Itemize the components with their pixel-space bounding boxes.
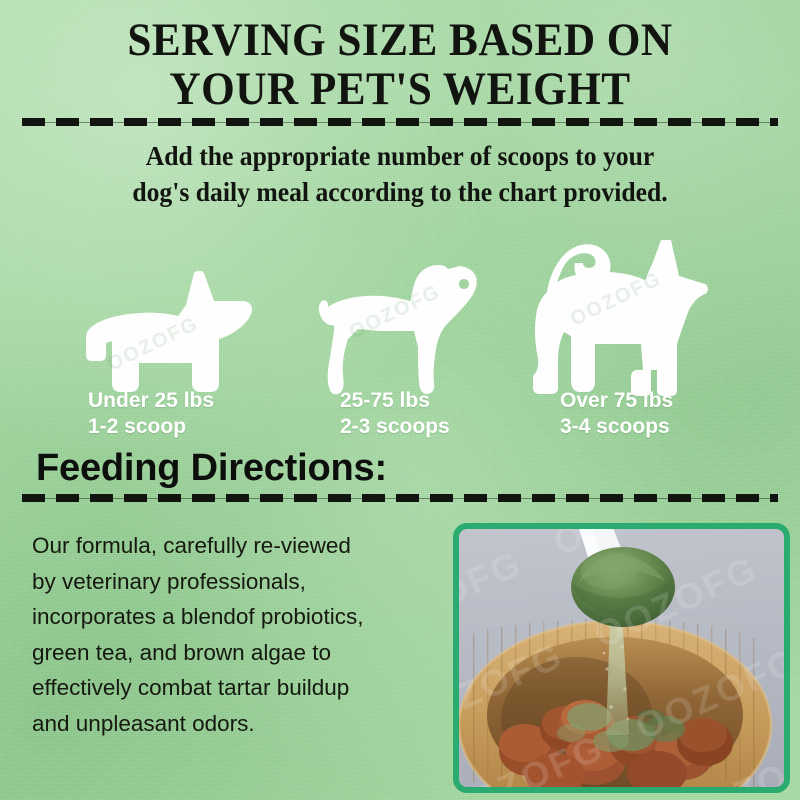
serving-size-infographic: SERVING SIZE BASED ON YOUR PET'S WEIGHT … [0, 0, 800, 800]
large-dog-silhouette-icon [533, 240, 709, 396]
divider-dashes [22, 118, 778, 126]
body-line-3: incorporates a blendof probiotics, [32, 599, 432, 635]
small-dog-silhouette: OOZOFG [86, 271, 254, 396]
subtitle-line-2: dog's daily meal according to the chart … [20, 174, 780, 210]
feeding-directions-heading: Feeding Directions: [36, 446, 387, 490]
dog-label-row: Under 25 lbs 1-2 scoop 25-75 lbs 2-3 sco… [0, 388, 800, 448]
medium-dog-silhouette: OOZOFG [318, 261, 482, 396]
serving-scoops-medium: 2-3 scoops [340, 414, 450, 440]
serving-scoops-small: 1-2 scoop [88, 414, 214, 440]
page-title-line-2: YOUR PET'S WEIGHT [32, 65, 768, 114]
subtitle: Add the appropriate number of scoops to … [20, 138, 780, 210]
divider-middle [22, 494, 778, 503]
feeding-directions-body: Our formula, carefully re-viewed by vete… [32, 528, 432, 741]
serving-label-small: Under 25 lbs 1-2 scoop [88, 388, 214, 440]
serving-label-medium: 25-75 lbs 2-3 scoops [340, 388, 450, 440]
product-photo: OOZOFG OOZOFG OOZOFG OOZOFG OOZOFG OOZOF… [453, 523, 790, 793]
serving-weight-small: Under 25 lbs [88, 388, 214, 414]
body-line-5: effectively combat tartar buildup [32, 670, 432, 706]
large-dog-silhouette: OOZOFG [533, 240, 709, 396]
scoop-and-bowl-illustration [459, 529, 784, 787]
serving-weight-medium: 25-75 lbs [340, 388, 450, 414]
product-photo-inner: OOZOFG OOZOFG OOZOFG OOZOFG OOZOFG OOZOF… [459, 529, 784, 787]
body-line-4: green tea, and brown algae to [32, 635, 432, 671]
body-line-6: and unpleasant odors. [32, 706, 432, 742]
medium-dog-silhouette-icon [318, 261, 482, 396]
divider-top [22, 118, 778, 127]
page-title: SERVING SIZE BASED ON YOUR PET'S WEIGHT [32, 16, 768, 114]
divider-dashes [22, 494, 778, 502]
small-dog-silhouette-icon [86, 271, 254, 396]
body-line-1: Our formula, carefully re-viewed [32, 528, 432, 564]
subtitle-line-1: Add the appropriate number of scoops to … [20, 138, 780, 174]
body-line-2: by veterinary professionals, [32, 564, 432, 600]
serving-scoops-large: 3-4 scoops [560, 414, 673, 440]
page-title-line-1: SERVING SIZE BASED ON [32, 16, 768, 65]
serving-weight-large: Over 75 lbs [560, 388, 673, 414]
dog-silhouette-row: OOZOFG OOZOFG OOZOFG [0, 226, 800, 396]
serving-label-large: Over 75 lbs 3-4 scoops [560, 388, 673, 440]
